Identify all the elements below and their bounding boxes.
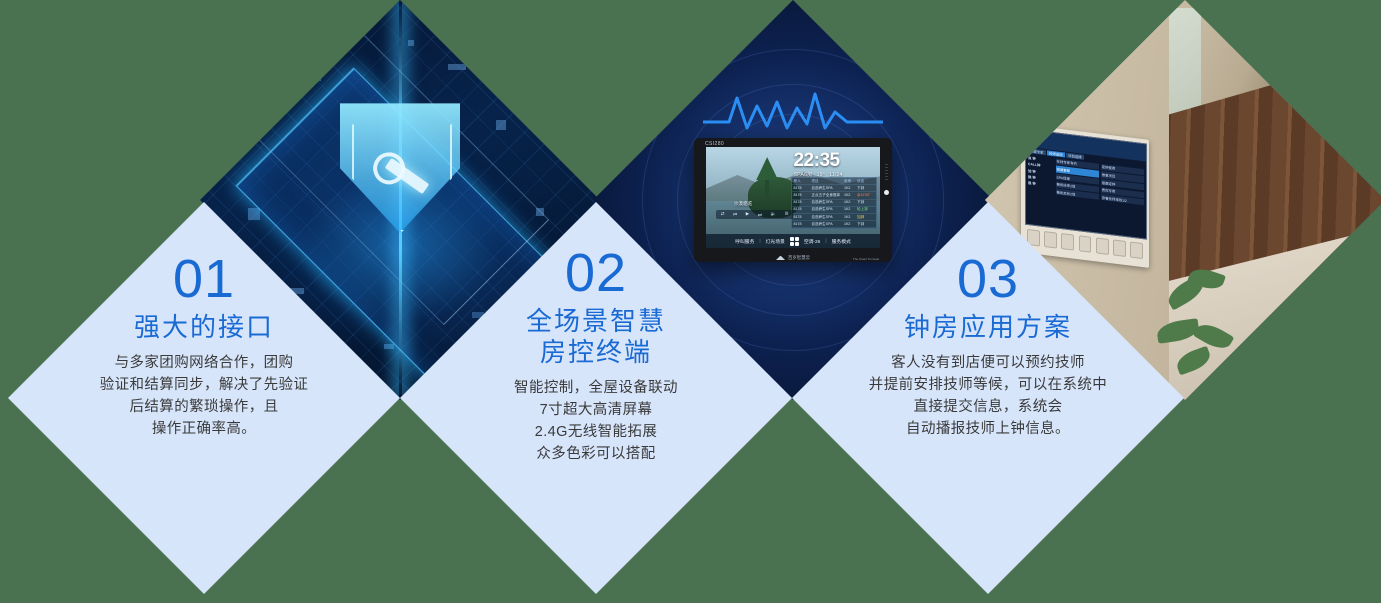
- desc-line: 后结算的繁琐操作，且: [42, 396, 366, 418]
- desc-line: 并提前安排技师等候，可以在系统中: [806, 374, 1170, 396]
- cell-room: 8178: [793, 215, 811, 220]
- wall-panel-left-keys[interactable]: 点 钟 CALL钟 加 钟 换 钟 退 钟: [1028, 155, 1054, 216]
- cell-tech: 1K2: [844, 200, 857, 205]
- volume-icon[interactable]: 🔈: [771, 211, 776, 217]
- desc-line: 7寸超大高清屏幕: [434, 399, 758, 421]
- cell-tech: 1K2: [844, 222, 857, 227]
- desc-line: 自动播报技师上钟信息。: [806, 418, 1170, 440]
- card-description: 客人没有到店便可以预约技师 并提前安排技师等候，可以在系统中 直接提交信息，系统…: [806, 352, 1170, 440]
- clock-widget: 22:35 SPA6房 19° 11/24: [793, 151, 877, 178]
- wallpaper-tree: [765, 161, 769, 199]
- cell-tech: 1K2: [844, 193, 857, 198]
- table-row[interactable]: 8178 自选养生SPA 1K2 下钟: [792, 185, 876, 192]
- media-controls[interactable]: ⇄ ⏮ ▶ ⏭ 🔈 ☰: [716, 210, 793, 219]
- bottom-item-aircon[interactable]: 空调-26: [804, 238, 821, 245]
- tablet-model-text: The Smart Terminal: [853, 257, 879, 261]
- card-title-line: 房控终端: [434, 337, 758, 368]
- hw-button-5[interactable]: [1113, 239, 1126, 256]
- camera-icon: [884, 190, 889, 195]
- table-row[interactable]: 8178 自选养生SPA 1K2 轮上钟: [792, 207, 876, 214]
- wall-panel-screen[interactable]: 多房控制 保健专家 技师选项 项目选择 点 钟 CALL钟 加 钟 换 钟 退 …: [1025, 129, 1147, 240]
- tab-0[interactable]: 保健专家: [1028, 148, 1046, 155]
- desc-line: 验证和结算同步，解决了先验证: [42, 374, 366, 396]
- table-row[interactable]: 8178 正点五子全身推拿 1K2 余11'50": [792, 192, 876, 199]
- col-header-1: 项目: [811, 179, 844, 184]
- table-row[interactable]: 8178 自选养生SPA 1K2 下钟: [792, 221, 876, 228]
- cell-room: 8178: [793, 207, 811, 212]
- col-header-2: 房房: [844, 179, 857, 184]
- cell-room: 8178: [793, 222, 811, 227]
- potted-plant: [1145, 256, 1249, 392]
- hw-button-3[interactable]: [1079, 235, 1092, 252]
- prev-icon[interactable]: ⏮: [733, 212, 737, 217]
- bottom-item-call-service[interactable]: 呼叫服务: [735, 238, 754, 245]
- wall-panel-title: 多房控制: [1028, 136, 1042, 143]
- bottom-item-light-scene[interactable]: 灯光场景: [766, 238, 785, 245]
- clock-time: 22:35: [793, 151, 877, 170]
- col-header-3: 状态: [857, 179, 875, 184]
- waveform-icon: [703, 88, 883, 134]
- cell-item: 自选养生SPA: [811, 200, 844, 205]
- cell-status: 下钟: [857, 186, 875, 191]
- desc-line: 操作正确率高。: [42, 418, 366, 440]
- play-icon[interactable]: ▶: [746, 211, 749, 217]
- cell-room: 8178: [793, 200, 811, 205]
- tablet-screen[interactable]: 22:35 SPA6房 19° 11/24 房人 项目 房房 状态: [706, 147, 880, 248]
- shuffle-icon[interactable]: ⇄: [721, 211, 725, 217]
- desc-line: 智能控制，全屋设备联动: [434, 377, 758, 399]
- table-row[interactable]: 8178 自选养生SPA 1K2 加钟: [792, 214, 876, 221]
- cell-tech: 1K2: [844, 186, 857, 191]
- card-description: 与多家团购网络合作，团购 验证和结算同步，解决了先验证 后结算的繁琐操作，且 操…: [42, 352, 366, 440]
- cell-status: 余11'50": [857, 193, 875, 198]
- promo-banner: CSI280 22:35 SPA6房 19° 11/24: [0, 0, 1381, 603]
- bottom-item-service-mode[interactable]: 服务模式: [832, 238, 851, 245]
- hw-button-6[interactable]: [1130, 241, 1143, 258]
- desc-line: 客人没有到店便可以预约技师: [806, 352, 1170, 374]
- tablet-frame: CSI280 22:35 SPA6房 19° 11/24: [694, 138, 892, 262]
- wall-panel-col-1[interactable]: 在线专家有约 保健套餐 SPA经理 看房技师2组 看房定房2组: [1056, 158, 1099, 221]
- cell-item: 自选养生SPA: [811, 186, 844, 191]
- cell-tech: 1K2: [844, 207, 857, 212]
- cell-tech: 1K2: [844, 215, 857, 220]
- cell-status: 加钟: [857, 215, 875, 220]
- brand-name: 百岁智慧云: [788, 255, 810, 261]
- hw-button-2[interactable]: [1061, 233, 1074, 250]
- next-icon[interactable]: ⏭: [758, 212, 762, 217]
- apps-grid-icon[interactable]: [790, 237, 799, 246]
- tablet-bottom-bar[interactable]: 呼叫服务 | 灯光场景 空调-26 | 服务模式: [706, 234, 880, 248]
- cell-status: 下钟: [857, 200, 875, 205]
- wall-panel-device[interactable]: 多房控制 保健专家 技师选项 项目选择 点 钟 CALL钟 加 钟 换 钟 退 …: [1021, 124, 1149, 268]
- desc-line: 众多色彩可以搭配: [434, 443, 758, 465]
- media-title: 沙漠骆驼: [734, 201, 752, 207]
- cell-item: 正点五子全身推拿: [811, 193, 844, 198]
- cell-status: 轮上钟: [857, 207, 875, 212]
- card-description: 智能控制，全屋设备联动 7寸超大高清屏幕 2.4G无线智能拓展 众多色彩可以搭配: [434, 377, 758, 465]
- hw-button-1[interactable]: [1044, 231, 1057, 248]
- desc-line: 2.4G无线智能拓展: [434, 421, 758, 443]
- desc-line: 与多家团购网络合作，团购: [42, 352, 366, 374]
- cell-item: 自选养生SPA: [811, 222, 844, 227]
- hw-button-4[interactable]: [1096, 237, 1109, 254]
- divider: |: [825, 239, 826, 244]
- table-row[interactable]: 8178 自选养生SPA 1K2 下钟: [792, 200, 876, 207]
- service-table[interactable]: 房人 项目 房房 状态 8178 自选养生SPA 1K2 下钟 8178 正点五…: [791, 177, 877, 229]
- speaker-grille: [885, 164, 888, 180]
- cell-item: 自选养生SPA: [811, 207, 844, 212]
- card-title: 强大的接口: [42, 312, 366, 343]
- cell-room: 8178: [793, 186, 811, 191]
- wall-panel-col-2[interactable]: 定钟使用 推拿项目 按摩定钟 贵宾专用 查看技师排班1/2: [1101, 164, 1144, 227]
- col-header-0: 房人: [793, 179, 811, 184]
- brand-logo-icon: [776, 256, 785, 260]
- list-icon[interactable]: ☰: [785, 211, 789, 217]
- cell-item: 自选养生SPA: [811, 215, 844, 220]
- cell-status: 下钟: [857, 222, 875, 227]
- table-header-row: 房人 项目 房房 状态: [792, 178, 876, 185]
- desc-line: 直接提交信息，系统会: [806, 396, 1170, 418]
- divider: |: [759, 239, 760, 244]
- cell-room: 8178: [793, 193, 811, 198]
